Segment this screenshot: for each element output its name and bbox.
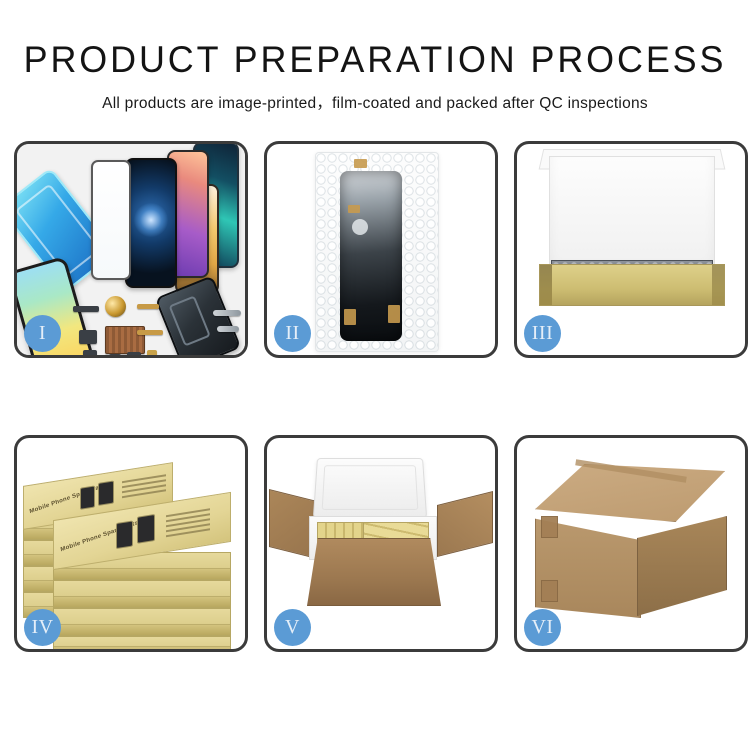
step-badge-2: II <box>274 315 311 352</box>
step-badge-4: IV <box>24 609 61 646</box>
box-label-phone-image-2 <box>98 480 114 506</box>
stacked-box-front-4 <box>53 636 231 649</box>
box-label-phone-image-1 <box>80 485 95 509</box>
dark-screen-phone <box>125 158 177 288</box>
button-part <box>109 354 121 355</box>
step-panel-1: I <box>14 141 248 358</box>
step-badge-6: VI <box>524 609 561 646</box>
tape-piece-middle <box>348 205 360 213</box>
stacked-box-front-2 <box>53 580 231 608</box>
stacked-box-front-3 <box>53 608 231 636</box>
carton-flap-right <box>437 491 493 557</box>
tweezers-tool <box>213 310 241 316</box>
page-title: PRODUCT PREPARATION PROCESS <box>11 41 739 80</box>
step-panel-6: VI <box>514 435 748 652</box>
box-stack: Mobile Phone Spare Parts Mobile Phone Sp… <box>23 456 239 640</box>
carton-front-wall <box>307 538 441 606</box>
header: PRODUCT PREPARATION PROCESS All products… <box>0 0 750 113</box>
step-panel-3: III <box>514 141 748 358</box>
flex-cable-part-2 <box>137 330 163 335</box>
step-badge-1: I <box>24 315 61 352</box>
speaker-part <box>73 306 99 312</box>
carton-tape-lower <box>541 580 558 602</box>
step-panel-5: V <box>264 435 498 652</box>
step-badge-5: V <box>274 609 311 646</box>
vibrator-part <box>127 352 141 355</box>
process-steps-grid: I II <box>14 141 736 673</box>
bracket-part <box>83 350 97 355</box>
box-label-phone-image-3 <box>116 520 133 549</box>
box-white-lid <box>549 156 715 274</box>
tape-piece-top <box>354 159 367 168</box>
page-subtitle: All products are image-printed，film-coat… <box>0 91 750 113</box>
step-badge-3: III <box>524 315 561 352</box>
box-label-text-back: Mobile Phone Spare Parts <box>29 482 108 515</box>
carton-side-face <box>637 516 727 616</box>
product-preparation-infographic: PRODUCT PREPARATION PROCESS All products… <box>0 0 750 750</box>
screwdriver-tool <box>217 326 239 332</box>
tempered-glass-protector <box>91 160 131 280</box>
tape-piece-lower-left <box>344 309 356 325</box>
tape-piece-lower-right <box>388 305 400 323</box>
flex-cable-part <box>137 304 159 309</box>
connector-part <box>79 330 97 344</box>
camera-module-part <box>105 296 126 317</box>
step-panel-2: II <box>264 141 498 358</box>
box-label-phone-image-4 <box>137 514 155 544</box>
foam-box-lid <box>313 458 427 518</box>
box-kraft-base <box>539 264 725 306</box>
screw-part <box>147 350 157 355</box>
carton-tape-upper <box>541 516 558 538</box>
bubble-wrap-bag <box>315 152 439 352</box>
step-panel-4: Mobile Phone Spare Parts Mobile Phone Sp… <box>14 435 248 652</box>
